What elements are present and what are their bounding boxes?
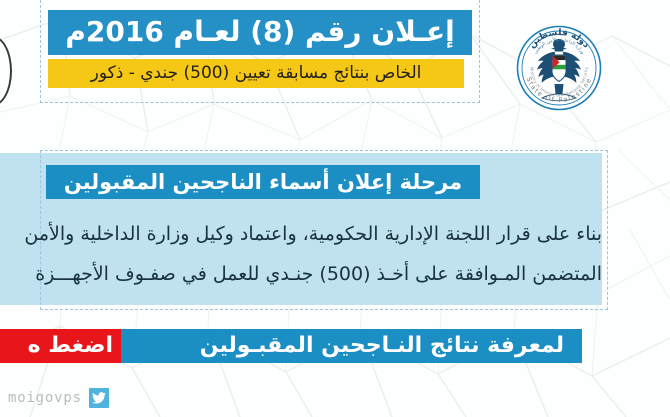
announcement-paragraph: بناء على قرار اللجنة الإدارية الحكومية، …: [2, 214, 602, 294]
announcement-title-bar: إعـلان رقم (8) لعـام 2016م: [48, 10, 472, 55]
cropped-seal-left: [0, 36, 12, 106]
state-of-palestine-emblem: دولة فلسطين وزارة الداخلية والأمن الوطني…: [516, 22, 602, 114]
twitter-handle-text: moigovps: [8, 391, 82, 405]
twitter-bird-icon[interactable]: [89, 388, 109, 408]
click-here-button[interactable]: اضغط ه: [0, 329, 121, 363]
section-title: مرحلة إعلان أسماء الناجحين المقبولين: [64, 172, 462, 193]
social-handle[interactable]: moigovps: [8, 388, 109, 408]
paragraph-line-2: المتضمن المـوافقة على أخـذ (500) جنـدي ل…: [2, 254, 602, 294]
paragraph-line-1: بناء على قرار اللجنة الإدارية الحكومية، …: [2, 214, 602, 254]
results-cta-label: لمعرفة نتائج النـاجحين المقبـولين: [200, 335, 564, 357]
announcement-subtitle-bar: الخاص بنتائج مسابقة تعيين (500) جندي - ذ…: [48, 59, 464, 88]
announcement-title: إعـلان رقم (8) لعـام 2016م: [65, 18, 454, 46]
section-title-bar: مرحلة إعلان أسماء الناجحين المقبولين: [46, 165, 480, 199]
announcement-poster: إعـلان رقم (8) لعـام 2016م الخاص بنتائج …: [0, 0, 670, 417]
click-here-label: اضغط ه: [28, 335, 113, 357]
announcement-subtitle: الخاص بنتائج مسابقة تعيين (500) جندي - ذ…: [91, 65, 422, 82]
